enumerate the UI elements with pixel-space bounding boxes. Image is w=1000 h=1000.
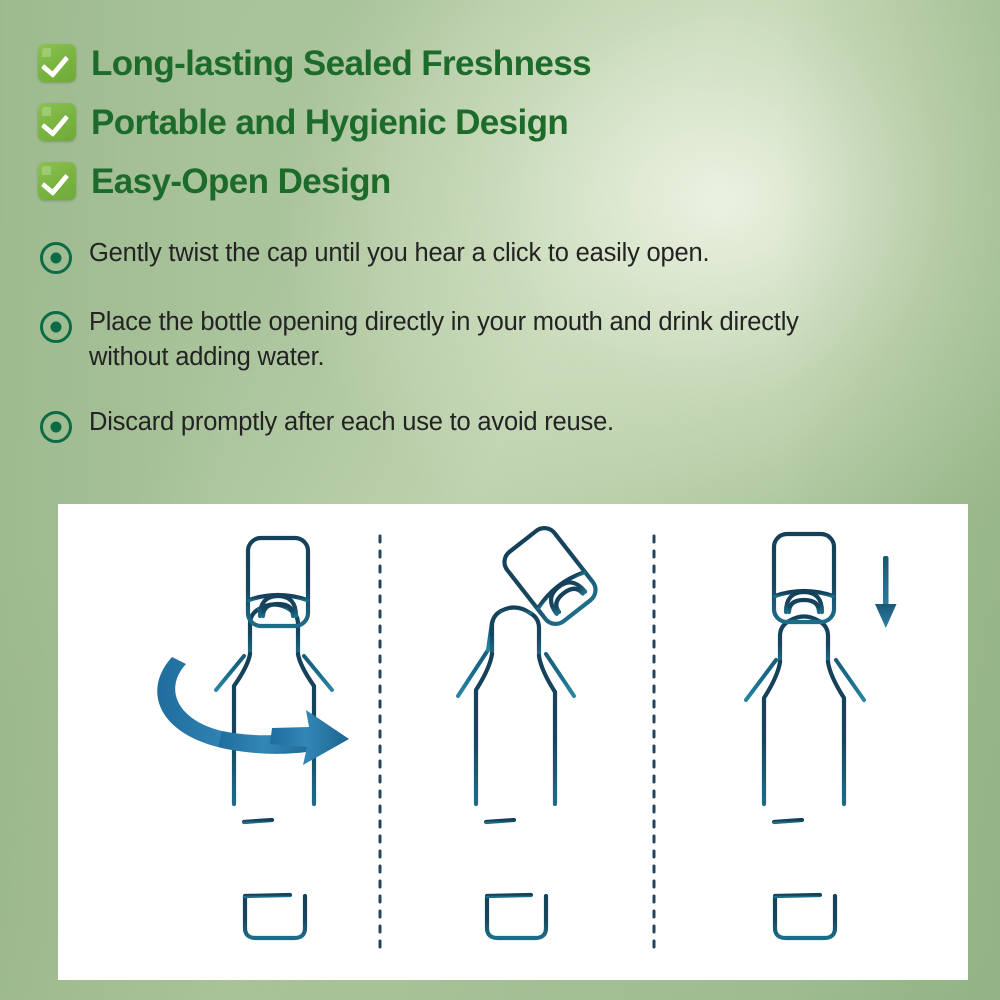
feature-heading-item: Long-lasting Sealed Freshness: [38, 40, 858, 86]
instruction-item: Discard promptly after each use to avoid…: [40, 405, 840, 443]
instruction-text: Discard promptly after each use to avoid…: [89, 405, 614, 440]
bottle-steps-diagram: [58, 504, 968, 980]
down-arrow-icon: [875, 556, 897, 628]
instruction-item: Place the bottle opening directly in you…: [40, 305, 840, 374]
instruction-text: Place the bottle opening directly in you…: [89, 305, 819, 374]
step-press-illustration: [746, 534, 897, 954]
feature-heading-list: Long-lasting Sealed Freshness Portable a…: [38, 40, 858, 217]
check-square-icon: [38, 103, 76, 141]
check-square-icon: [38, 44, 76, 82]
step-remove-illustration: [458, 523, 601, 954]
radio-dot-icon: [40, 311, 72, 343]
feature-heading-item: Easy-Open Design: [38, 158, 858, 204]
tilted-cap-icon: [499, 523, 600, 629]
feature-heading-label: Easy-Open Design: [91, 164, 391, 199]
illustration-panel: [58, 504, 968, 980]
check-square-icon: [38, 162, 76, 200]
feature-heading-label: Portable and Hygienic Design: [91, 105, 568, 140]
instruction-list: Gently twist the cap until you hear a cl…: [40, 236, 840, 474]
radio-dot-icon: [40, 242, 72, 274]
instruction-text: Gently twist the cap until you hear a cl…: [89, 236, 709, 271]
step-twist-illustration: [157, 538, 349, 954]
instruction-item: Gently twist the cap until you hear a cl…: [40, 236, 840, 274]
feature-heading-label: Long-lasting Sealed Freshness: [91, 46, 591, 81]
feature-heading-item: Portable and Hygienic Design: [38, 99, 858, 145]
radio-dot-icon: [40, 411, 72, 443]
